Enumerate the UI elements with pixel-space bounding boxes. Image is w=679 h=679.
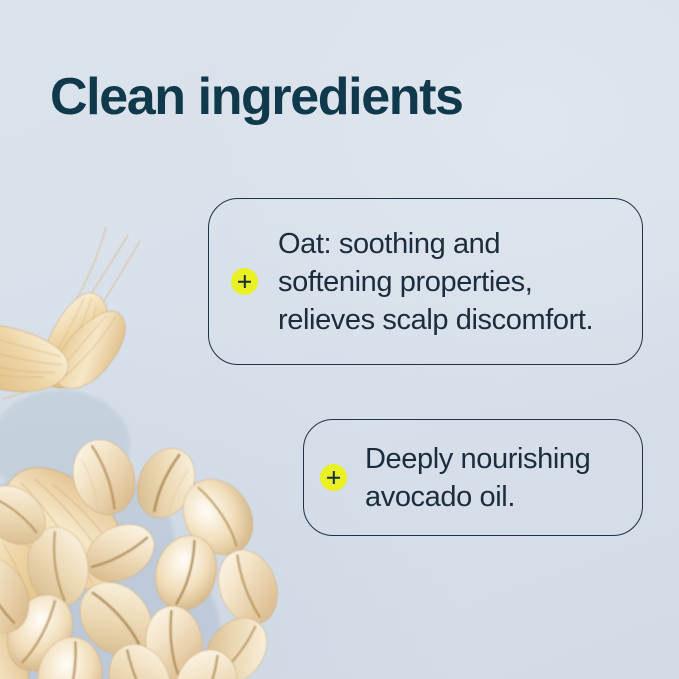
ingredient-card-avocado[interactable]: Deeply nourishing avocado oil. — [303, 419, 643, 536]
plus-icon — [231, 268, 258, 295]
page-title: Clean ingredients — [50, 67, 630, 127]
plus-icon — [320, 464, 347, 491]
ingredient-card-oat[interactable]: Oat: soothing and softening properties, … — [208, 198, 643, 365]
ingredient-card-oat-text: Oat: soothing and softening properties, … — [278, 225, 593, 339]
ingredient-card-avocado-text: Deeply nourishing avocado oil. — [365, 440, 590, 516]
ingredient-poster: Clean ingredients Oat: soothing and soft… — [0, 0, 679, 679]
